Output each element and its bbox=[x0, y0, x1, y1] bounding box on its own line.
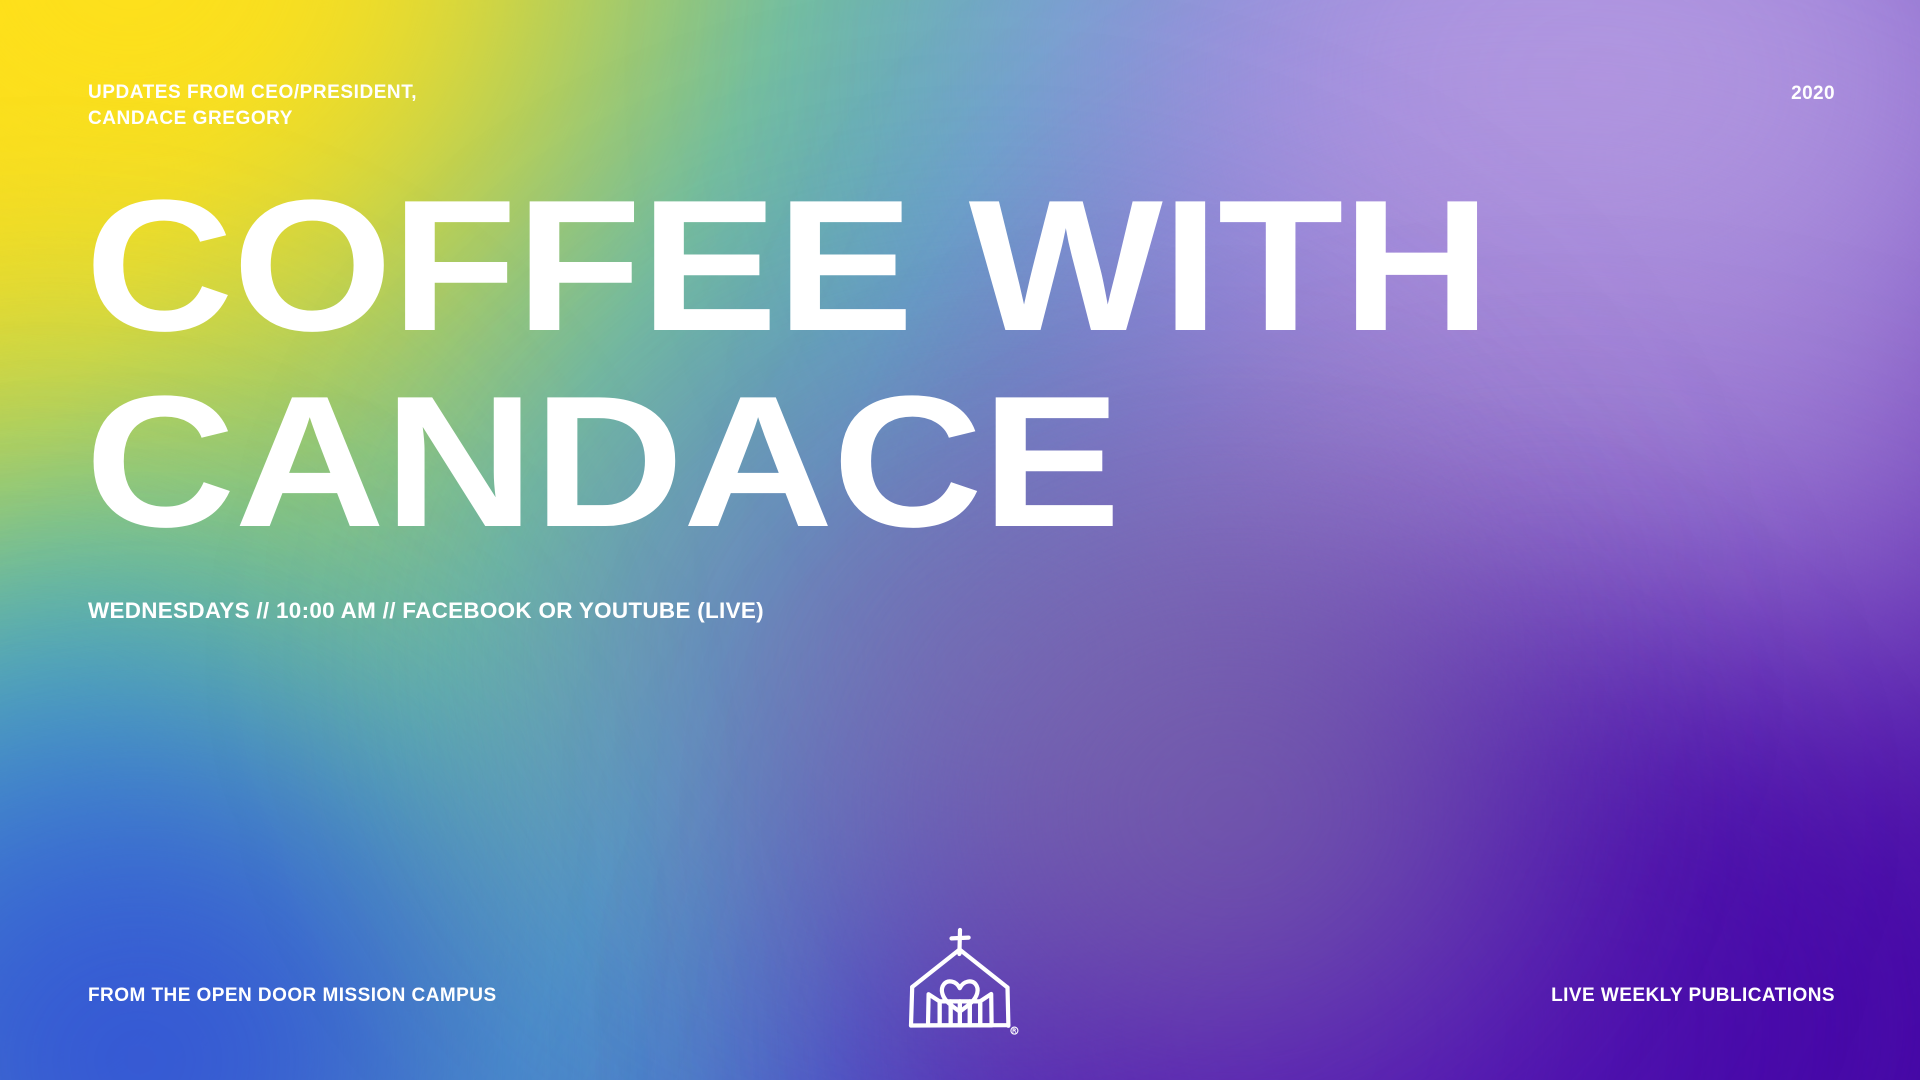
footer-left-text: FROM THE OPEN DOOR MISSION CAMPUS bbox=[88, 985, 497, 1007]
eyebrow-line-2: CANDACE GREGORY bbox=[88, 106, 417, 132]
page-title: COFFEE WITH CANDACE bbox=[85, 168, 1585, 560]
title-line-2: CANDACE bbox=[85, 364, 1758, 560]
title-line-1: COFFEE WITH bbox=[85, 168, 1735, 364]
schedule-subtitle: WEDNESDAYS // 10:00 AM // FACEBOOK OR YO… bbox=[88, 598, 764, 624]
poster-canvas: UPDATES FROM CEO/PRESIDENT, CANDACE GREG… bbox=[0, 0, 1920, 1080]
door-panel-right bbox=[970, 1001, 980, 1025]
year-label: 2020 bbox=[1791, 83, 1835, 105]
registered-mark-icon bbox=[1011, 1027, 1018, 1034]
wall-left bbox=[911, 987, 912, 1026]
footer-right-text: LIVE WEEKLY PUBLICATIONS bbox=[1551, 985, 1835, 1007]
eyebrow-line-1: UPDATES FROM CEO/PRESIDENT, bbox=[88, 80, 417, 106]
chapel-logo bbox=[895, 925, 1025, 1040]
eyebrow-text: UPDATES FROM CEO/PRESIDENT, CANDACE GREG… bbox=[88, 80, 417, 132]
wall-right bbox=[1008, 988, 1009, 1026]
